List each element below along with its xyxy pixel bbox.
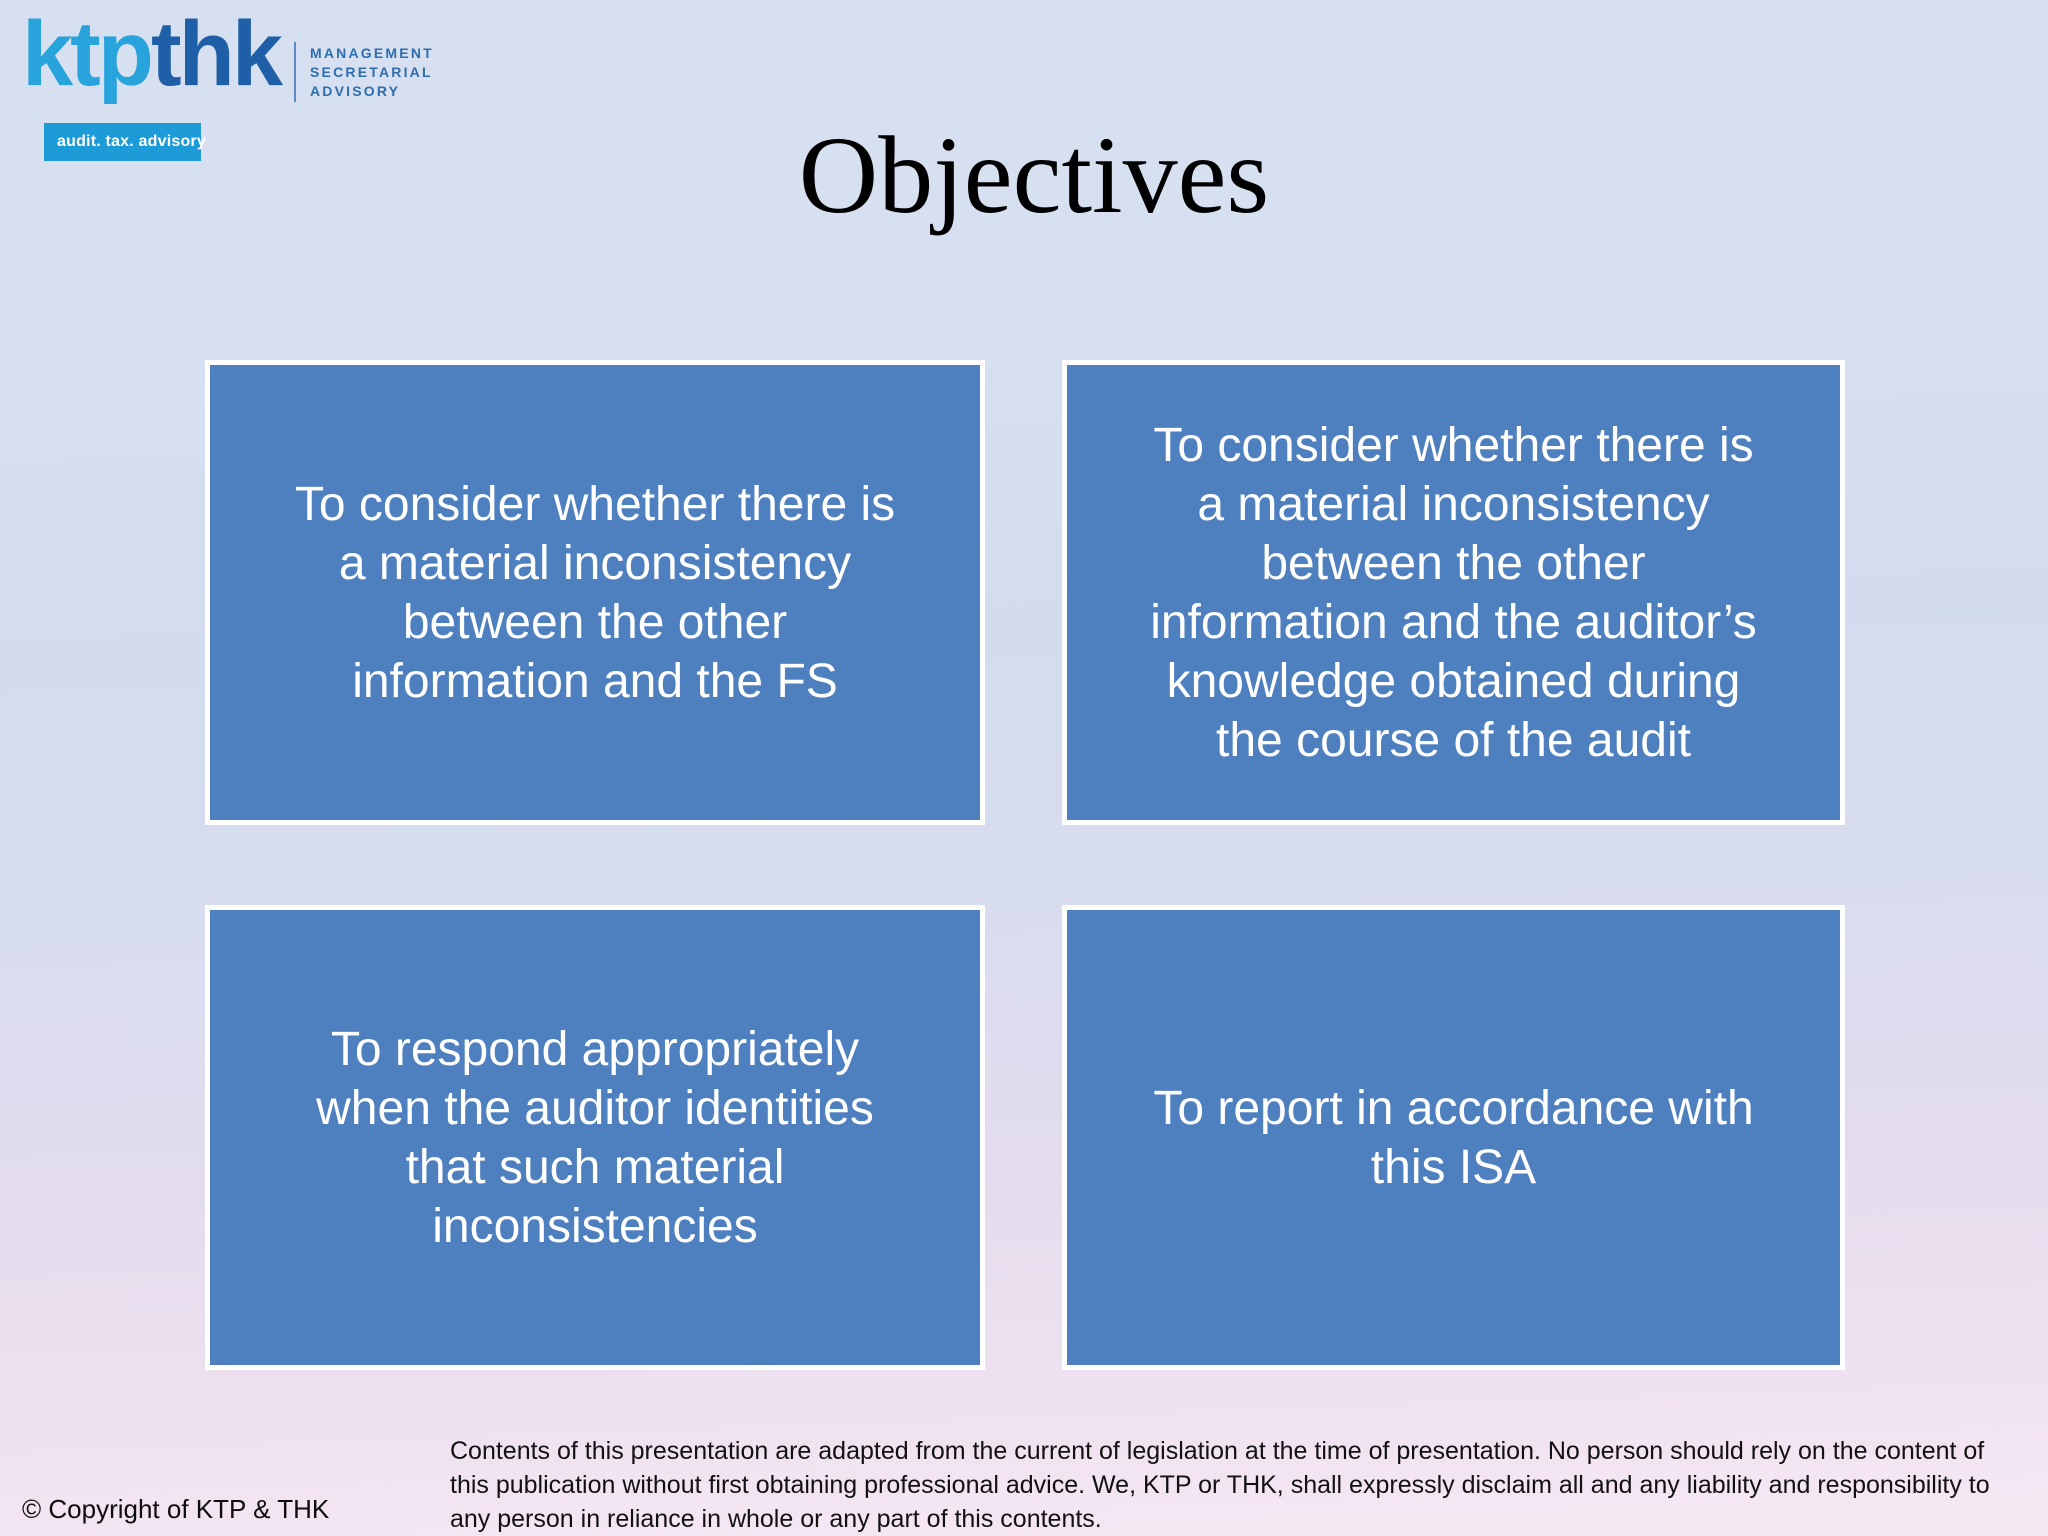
- objective-card-4-text: To report in accordance with this ISA: [1139, 1079, 1767, 1197]
- disclaimer-text: Contents of this presentation are adapte…: [450, 1434, 2005, 1536]
- slide-canvas: ktpthk MANAGEMENT SECRETARIAL ADVISORY a…: [0, 0, 2048, 1536]
- objective-card-1-text: To consider whether there is a material …: [281, 475, 909, 711]
- logo-wordmark-ktp: ktp: [22, 3, 151, 105]
- objective-card-3[interactable]: To respond appropriately when the audito…: [205, 905, 985, 1370]
- objective-card-2-text: To consider whether there is a material …: [1136, 416, 1771, 770]
- objective-card-4[interactable]: To report in accordance with this ISA: [1062, 905, 1845, 1370]
- page-title: Objectives: [0, 120, 2048, 230]
- logo-tagline: MANAGEMENT SECRETARIAL ADVISORY: [310, 44, 434, 101]
- objective-card-2[interactable]: To consider whether there is a material …: [1062, 360, 1845, 825]
- objective-card-1[interactable]: To consider whether there is a material …: [205, 360, 985, 825]
- copyright-text: © Copyright of KTP & THK: [22, 1494, 329, 1525]
- logo-divider: [294, 42, 296, 102]
- logo-wordmark-thk: thk: [151, 3, 280, 105]
- logo-wordmark: ktpthk: [22, 8, 280, 100]
- objective-card-3-text: To respond appropriately when the audito…: [302, 1020, 888, 1256]
